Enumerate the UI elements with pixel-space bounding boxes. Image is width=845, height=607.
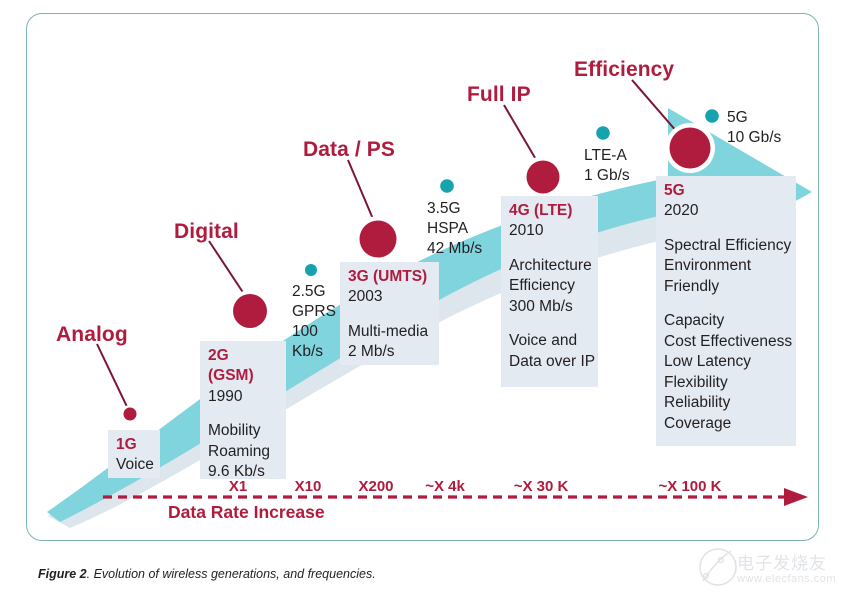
infobox-4g-l2: Efficiency: [509, 276, 590, 296]
infobox-5g-l8: Flexibility: [664, 373, 788, 393]
infobox-5g-l5: Capacity: [664, 311, 788, 331]
label-3-5g: 3.5G HSPA 42 Mb/s: [427, 199, 482, 259]
infobox-5g-l1: Spectral Efficiency: [664, 236, 788, 256]
callout-digital: Digital: [174, 220, 239, 244]
figure-caption-label: Figure 2: [38, 567, 87, 581]
infobox-5g-l3: Friendly: [664, 277, 788, 297]
infobox-2g-gen: 2G (GSM): [208, 346, 278, 387]
infobox-4g-gen: 4G (LTE): [509, 201, 590, 221]
callout-analog: Analog: [56, 323, 128, 347]
label-lte-a: LTE-A 1 Gb/s: [584, 146, 630, 186]
infobox-5g-l2: Environment: [664, 256, 788, 276]
label-3-5g-l2: HSPA: [427, 219, 482, 239]
infobox-5g-l6: Cost Effectiveness: [664, 332, 788, 352]
infobox-4g-l6: Data over IP: [509, 352, 590, 372]
label-2-5g-l2: GPRS: [292, 302, 336, 322]
infobox-2g-l2: Roaming: [208, 442, 278, 462]
infobox-5g-year: 2020: [664, 201, 788, 221]
label-5g-max-l1: 5G: [727, 108, 781, 128]
infobox-2g-l1: Mobility: [208, 421, 278, 441]
axis-tick-x200: X200: [358, 478, 393, 495]
infobox-4g-spacer1: [509, 242, 590, 256]
axis-tick-x100k: ~X 100 K: [659, 478, 722, 495]
axis-title: Data Rate Increase: [168, 502, 325, 523]
infobox-5g-l7: Low Latency: [664, 352, 788, 372]
figure-caption: Figure 2. Evolution of wireless generati…: [38, 567, 376, 581]
infobox-1g-gen: 1G: [116, 435, 152, 455]
label-5g-max: 5G 10 Gb/s: [727, 108, 781, 148]
infobox-3g-spacer: [348, 308, 431, 322]
callout-efficiency: Efficiency: [574, 58, 674, 82]
infobox-2g: 2G (GSM) 1990 Mobility Roaming 9.6 Kb/s: [200, 341, 286, 479]
axis-tick-x30k: ~X 30 K: [514, 478, 569, 495]
watermark: 电子发烧友 www.elecfans.com: [697, 541, 837, 603]
infobox-2g-year: 1990: [208, 387, 278, 407]
label-lte-a-l2: 1 Gb/s: [584, 166, 630, 186]
label-3-5g-l3: 42 Mb/s: [427, 239, 482, 259]
infobox-5g-l9: Reliability: [664, 393, 788, 413]
infobox-5g-l10: Coverage: [664, 414, 788, 434]
watermark-text-cn: 电子发烧友: [737, 549, 827, 574]
callout-data-ps: Data / PS: [303, 138, 395, 162]
infobox-4g-spacer2: [509, 317, 590, 331]
infobox-1g: 1G Voice: [108, 430, 160, 478]
figure-caption-text: . Evolution of wireless generations, and…: [87, 567, 376, 581]
infobox-3g-year: 2003: [348, 287, 431, 307]
label-3-5g-l1: 3.5G: [427, 199, 482, 219]
infobox-4g-l1: Architecture: [509, 256, 590, 276]
label-2-5g-l1: 2.5G: [292, 282, 336, 302]
infobox-4g-l3: 300 Mb/s: [509, 297, 590, 317]
callout-full-ip: Full IP: [467, 83, 531, 107]
infobox-1g-line: Voice: [116, 455, 152, 475]
infobox-3g-l2: 2 Mb/s: [348, 342, 431, 362]
label-5g-max-l2: 10 Gb/s: [727, 128, 781, 148]
infobox-5g: 5G 2020 Spectral Efficiency Environment …: [656, 176, 796, 446]
label-2-5g: 2.5G GPRS 100 Kb/s: [292, 282, 336, 363]
infobox-3g-gen: 3G (UMTS): [348, 267, 431, 287]
axis-tick-x1: X1: [229, 478, 247, 495]
label-lte-a-l1: LTE-A: [584, 146, 630, 166]
axis-tick-x4k: ~X 4k: [425, 478, 465, 495]
watermark-logo-icon: [697, 541, 739, 589]
infobox-5g-spacer2: [664, 297, 788, 311]
infobox-4g: 4G (LTE) 2010 Architecture Efficiency 30…: [501, 196, 598, 387]
label-2-5g-l4: Kb/s: [292, 342, 336, 362]
infobox-4g-year: 2010: [509, 221, 590, 241]
axis-tick-x10: X10: [295, 478, 322, 495]
infobox-2g-spacer: [208, 407, 278, 421]
label-2-5g-l3: 100: [292, 322, 336, 342]
infobox-5g-spacer1: [664, 222, 788, 236]
infobox-3g: 3G (UMTS) 2003 Multi-media 2 Mb/s: [340, 262, 439, 365]
infobox-3g-l1: Multi-media: [348, 322, 431, 342]
watermark-text-url: www.elecfans.com: [737, 573, 836, 585]
infobox-5g-gen: 5G: [664, 181, 788, 201]
infobox-4g-l5: Voice and: [509, 331, 590, 351]
